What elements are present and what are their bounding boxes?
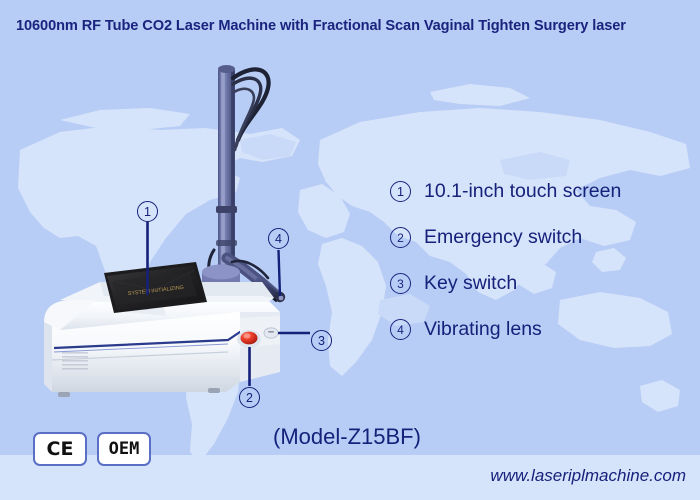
ce-badge: CE [33,432,87,466]
oem-badge-label: OEM [109,439,140,459]
feature-label-4: Vibrating lens [424,318,542,341]
callout-marker-4: 4 [268,228,289,249]
emergency-switch [237,330,261,348]
feature-item-3: 3 Key switch [390,272,517,295]
feature-item-2: 2 Emergency switch [390,226,582,249]
feature-label-2: Emergency switch [424,226,582,249]
feature-number-4: 4 [390,319,411,340]
callout-marker-1: 1 [137,201,158,222]
feature-number-2: 2 [390,227,411,248]
feature-number-1: 1 [390,181,411,202]
ce-badge-label: CE [47,438,74,460]
feature-label-1: 10.1-inch touch screen [424,180,621,203]
page-title: 10600nm RF Tube CO2 Laser Machine with F… [16,18,626,34]
key-switch [264,328,278,338]
feature-item-1: 1 10.1-inch touch screen [390,180,621,203]
feature-item-4: 4 Vibrating lens [390,318,542,341]
model-number: (Model-Z15BF) [273,424,421,450]
callout-marker-3: 3 [311,330,332,351]
website-url: www.laseriplmachine.com [490,466,686,486]
feature-number-3: 3 [390,273,411,294]
product-banner: SYSTEM INITIALIZING 10600nm RF Tube CO2 … [0,0,700,500]
feature-label-3: Key switch [424,272,517,295]
callout-marker-2: 2 [239,387,260,408]
articulated-arm [202,65,285,302]
oem-badge: OEM [97,432,151,466]
